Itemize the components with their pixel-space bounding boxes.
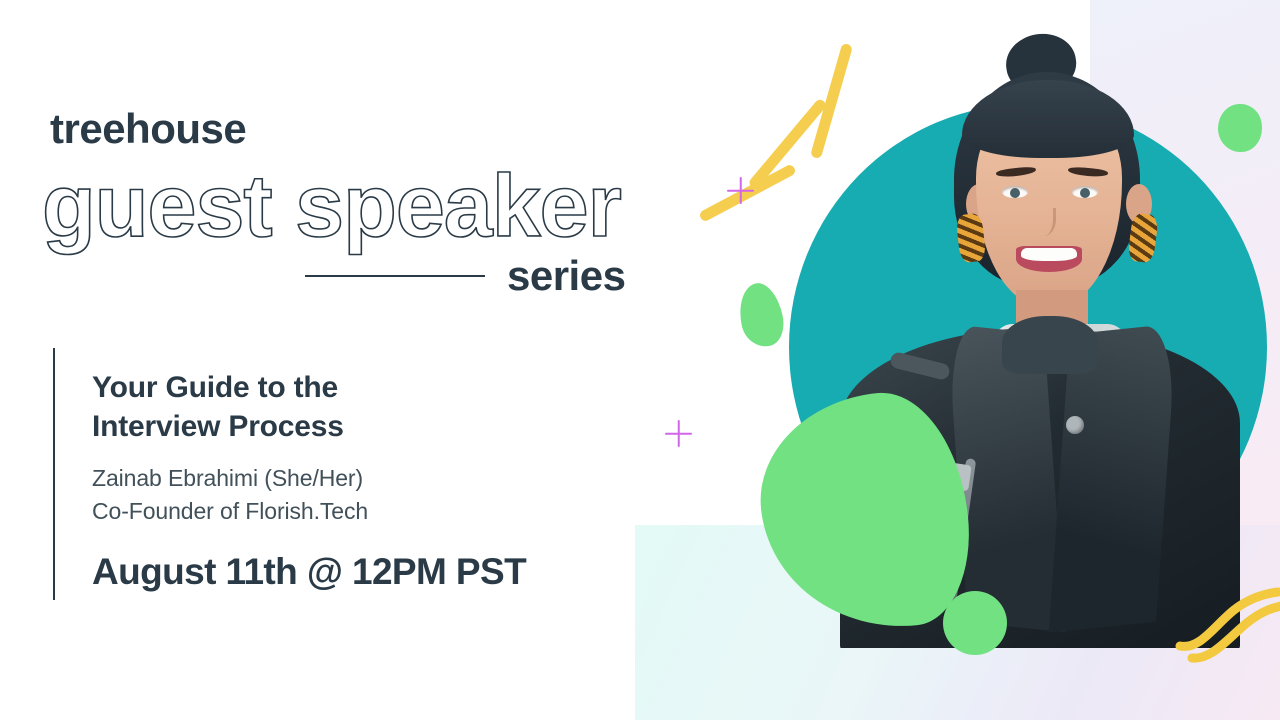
session-title-line-2: Interview Process [92,407,612,446]
portrait-jacket-stud [1066,416,1084,434]
session-title-line-1: Your Guide to the [92,368,612,407]
brand-wordmark: treehouse [50,108,246,150]
info-vertical-rule [53,348,55,600]
plus-mark-icon [727,177,754,204]
poster-canvas: treehouse guest speaker series Your Guid… [0,0,1280,720]
green-circle-blob-top [1218,104,1262,152]
portrait-fringe [962,80,1134,158]
green-bean-blob-small [734,279,788,350]
headline-outline-text: guest speaker [42,160,621,252]
plus-mark-icon [665,420,692,447]
speaker-role: Co-Founder of Florish.Tech [92,495,612,528]
speaker-name: Zainab Ebrahimi (She/Her) [92,462,612,495]
session-info-block: Your Guide to the Interview Process Zain… [92,368,612,593]
series-divider-rule [305,275,485,277]
session-datetime: August 11th @ 12PM PST [92,551,612,593]
portrait-mouth [1016,246,1082,272]
session-title: Your Guide to the Interview Process [92,368,612,446]
series-label: series [507,252,625,300]
portrait-teeth [1021,248,1077,261]
series-row: series [305,252,625,300]
portrait-jacket-collar [1002,316,1098,374]
portrait-pupil-left [1010,188,1020,198]
green-circle-blob-bottom [943,591,1007,655]
portrait-pupil-right [1080,188,1090,198]
squiggle-lines-icon [1178,580,1280,660]
